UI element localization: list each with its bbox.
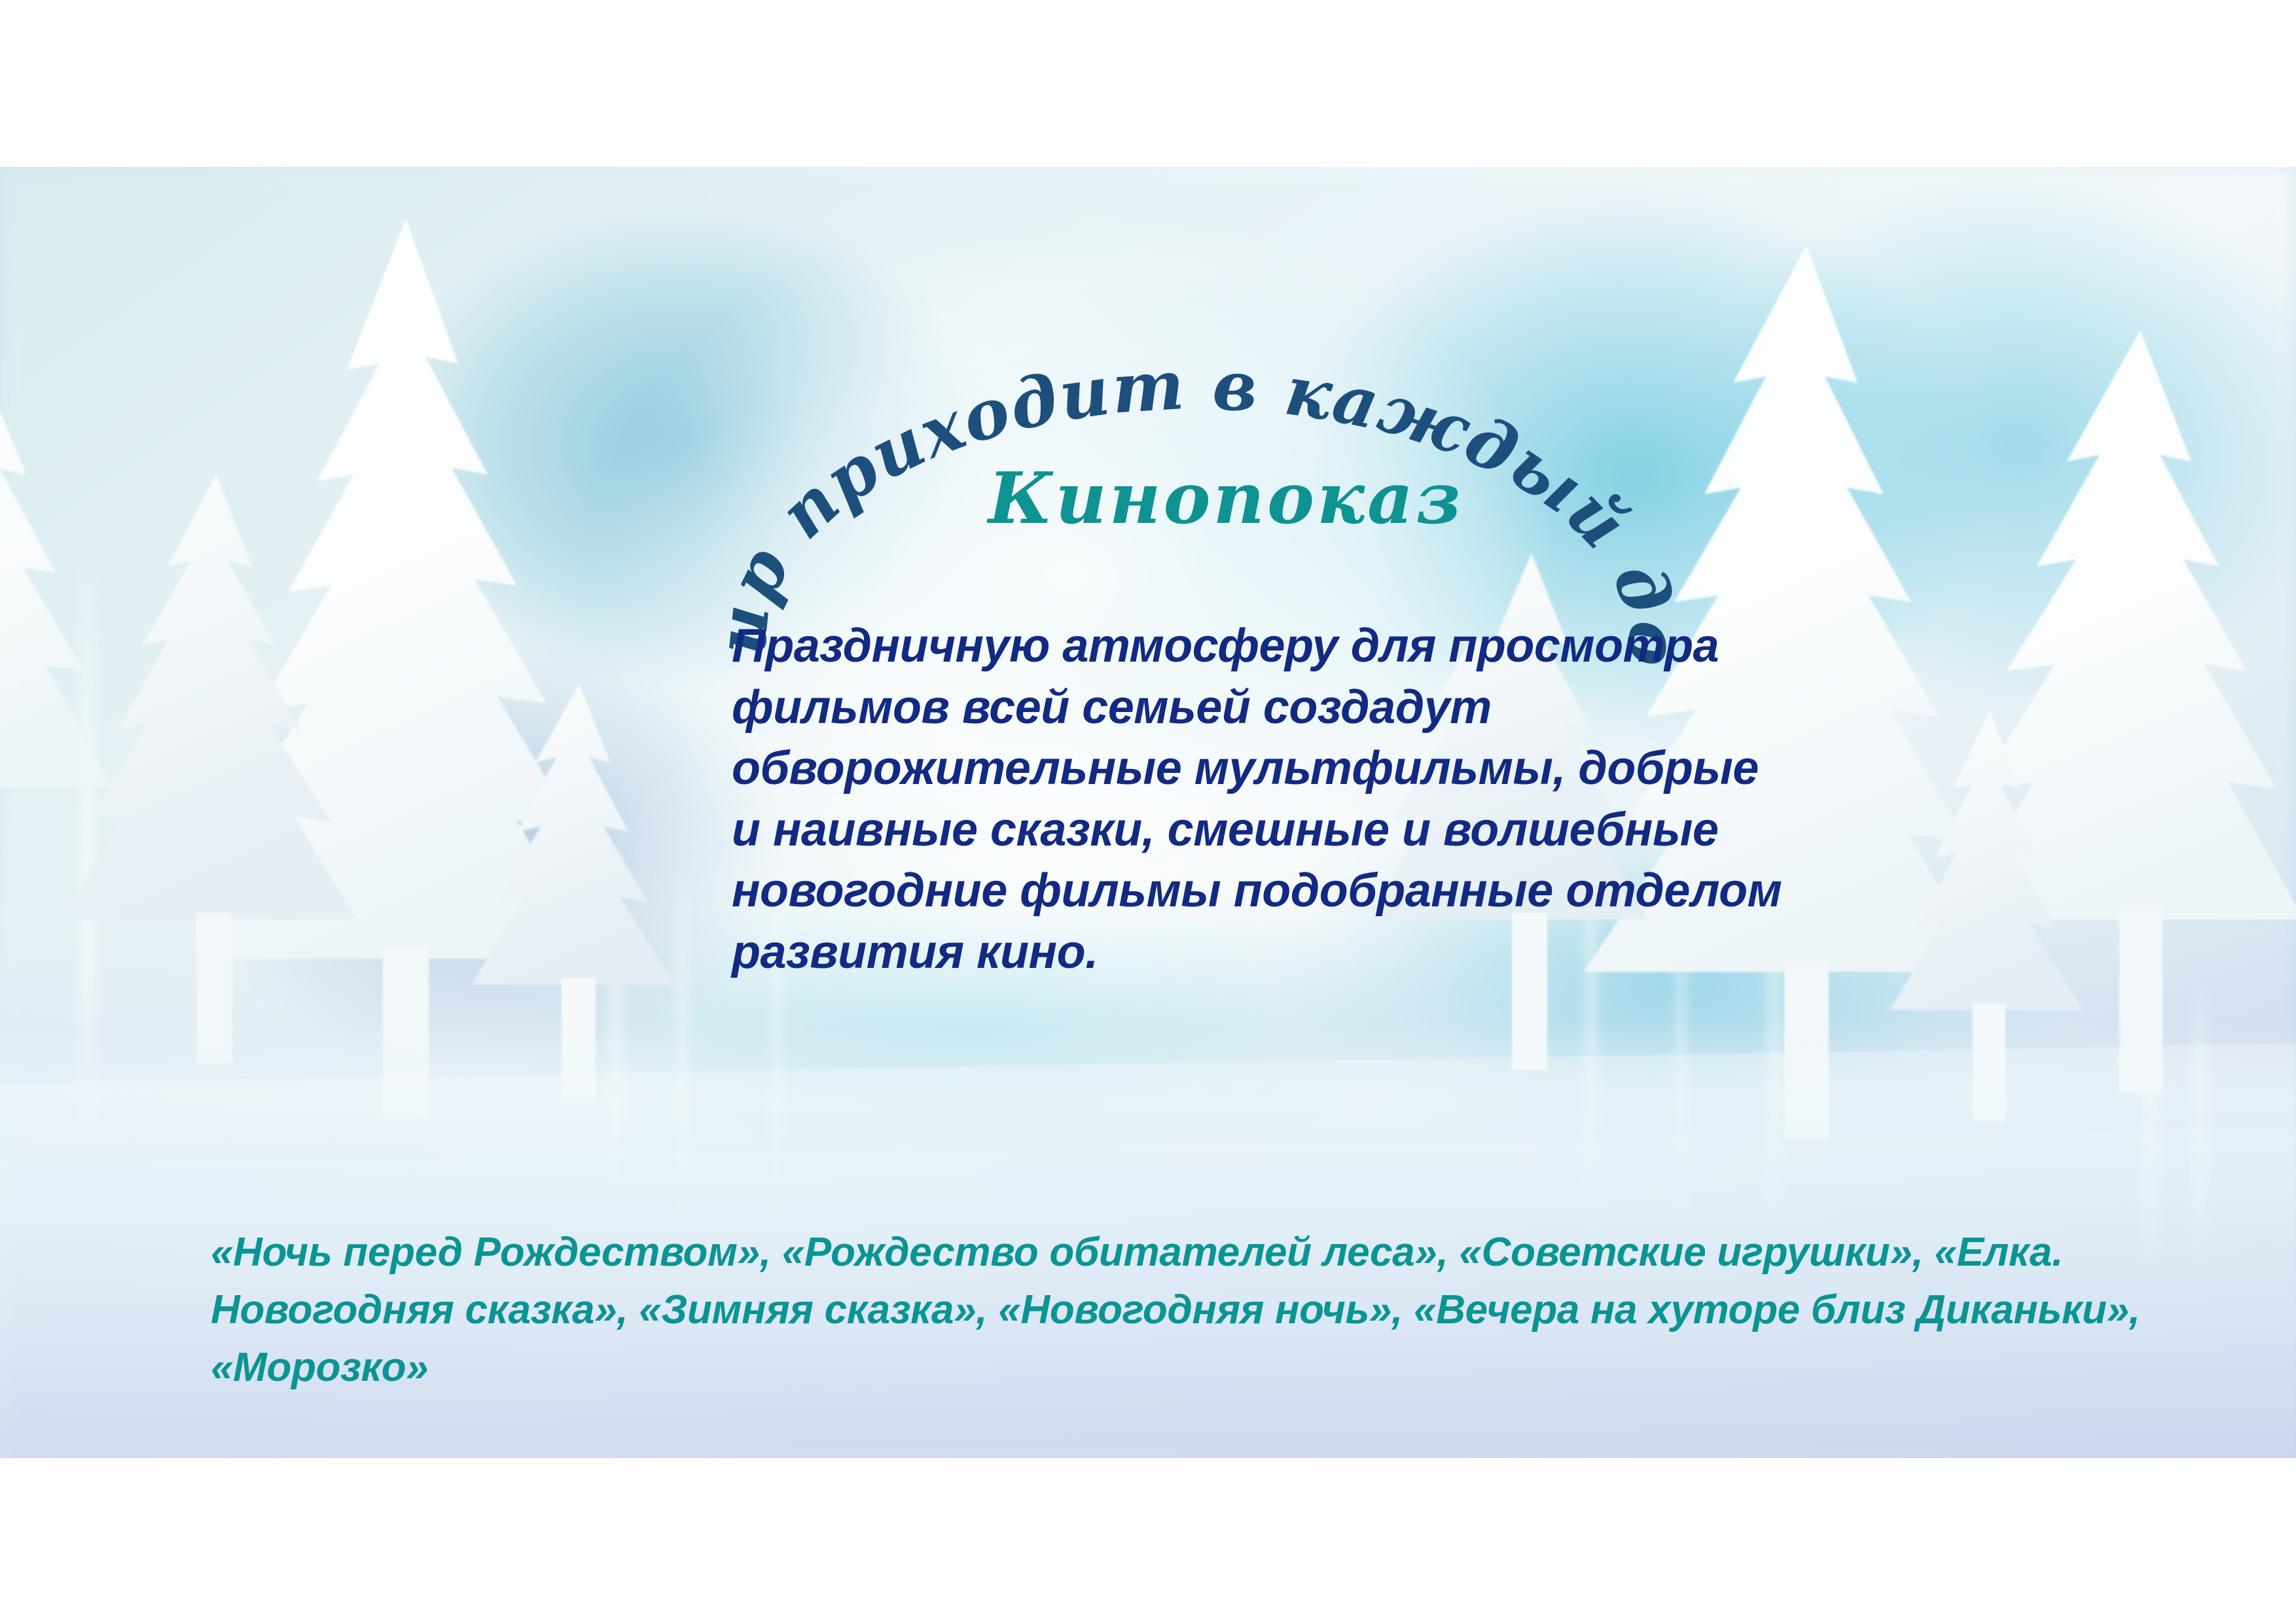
body-paragraph: Праздничную атмосферу для просмотра филь… [732, 616, 1792, 984]
film-list: «Ночь перед Рождеством», «Рождество обит… [211, 1224, 2240, 1397]
presentation-slide: Мир приходит в каждый дом Кинопоказ Праз… [0, 167, 2296, 1458]
subtitle-kinopokaz: Кинопоказ [988, 463, 1463, 534]
